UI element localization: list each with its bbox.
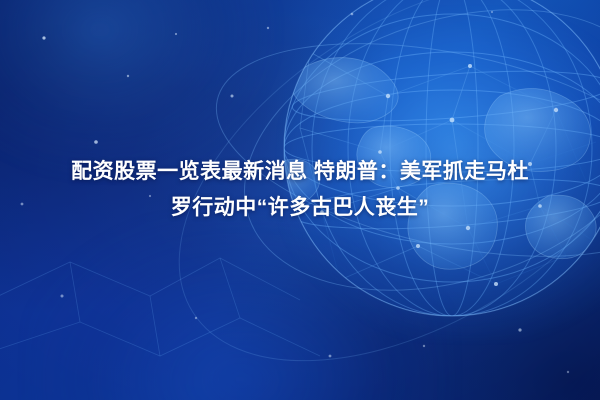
glow-bottom-left <box>30 220 450 400</box>
headline: 配资股票一览表最新消息 特朗普：美军抓走马杜 罗行动中“许多古巴人丧生” <box>0 154 600 226</box>
headline-line-2: 罗行动中“许多古巴人丧生” <box>0 190 600 226</box>
glow-top-left <box>0 0 280 180</box>
news-cover-image: 配资股票一览表最新消息 特朗普：美军抓走马杜 罗行动中“许多古巴人丧生” <box>0 0 600 400</box>
headline-line-1: 配资股票一览表最新消息 特朗普：美军抓走马杜 <box>0 154 600 190</box>
